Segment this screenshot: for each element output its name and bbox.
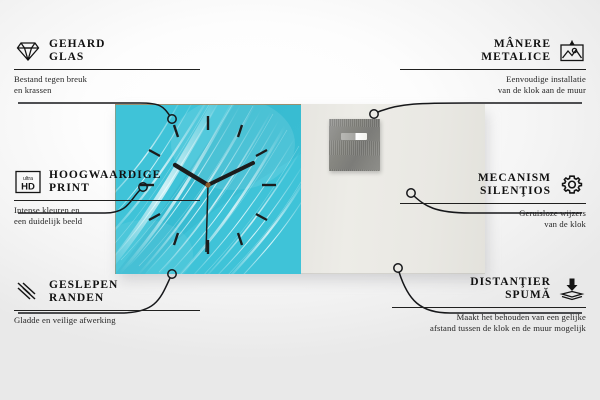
clock-center-cap [205,182,210,187]
feature-subtitle-line1: Eenvoudige installatie [506,74,586,84]
diagonal-lines-icon [14,279,42,305]
feature-subtitle-line2: afstand tussen de klok en de muur mogeli… [430,323,586,333]
feature-title-line1: MECANISM [478,172,551,184]
feature-hoogwaardige-print: ultra HD HOOGWAARDIGE PRINT Intense kleu… [14,167,200,228]
feature-subtitle-line2: een duidelijk beeld [14,216,82,226]
feature-manere-metalice: MÂNERE METALICE Eenvoudige installatie v… [400,36,586,97]
feature-header: GEHARD GLAS [14,36,200,66]
metal-hanger-plate [329,119,380,171]
hanger-slot [341,133,367,140]
feature-subtitle-line2: en krassen [14,85,52,95]
feature-subtitle-line1: Intense kleuren en [14,205,80,215]
feature-header: ultra HD HOOGWAARDIGE PRINT [14,167,200,197]
feature-title-line2: SPUMĂ [505,289,551,301]
gear-icon [558,172,586,198]
feature-title: HOOGWAARDIGE PRINT [49,169,161,196]
feature-geslepen-randen: GESLEPEN RANDEN Gladde en veilige afwerk… [14,277,200,326]
feature-title-line2: SILENŢIOS [480,185,551,197]
feature-subtitle: Eenvoudige installatie van de klok aan d… [400,74,586,97]
feature-title: DISTANŢIER SPUMĂ [470,276,551,303]
diamond-icon [14,38,42,64]
feature-subtitle: Gladde en veilige afwerking [14,315,200,326]
infographic-canvas: GEHARD GLAS Bestand tegen breuk en krass… [0,0,600,400]
clock-minute-hand [208,163,253,185]
feature-subtitle-line2: van de klok aan de muur [498,85,586,95]
feature-subtitle: Geruisloze wijzers van de klok [400,208,586,231]
feature-divider [400,69,586,70]
feature-title: MÂNERE METALICE [481,38,551,65]
feature-header: GESLEPEN RANDEN [14,277,200,307]
press-down-layer-icon [558,276,586,302]
feature-mecanism-silentios: MECANISM SILENŢIOS Geruisloze wijzers va… [400,170,586,231]
feature-divider [392,307,586,308]
feature-subtitle-line2: van de klok [544,219,586,229]
feature-title: GEHARD GLAS [49,38,105,65]
feature-subtitle: Bestand tegen breuk en krassen [14,74,200,97]
ultra-hd-icon: ultra HD [14,169,42,195]
feature-subtitle: Intense kleuren en een duidelijk beeld [14,205,200,228]
feature-title-line1: GESLEPEN [49,279,118,291]
feature-subtitle-line1: Gladde en veilige afwerking [14,315,116,325]
feature-title-line1: DISTANŢIER [470,276,551,288]
feature-gehard-glas: GEHARD GLAS Bestand tegen breuk en krass… [14,36,200,97]
feature-header: MÂNERE METALICE [400,36,586,66]
feature-title-line2: PRINT [49,182,90,194]
feature-distantier-spuma: DISTANŢIER SPUMĂ Maakt het behouden van … [392,274,586,335]
ultra-hd-large-label: HD [21,182,35,193]
feature-title-line2: GLAS [49,51,84,63]
feature-title: GESLEPEN RANDEN [49,279,118,306]
feature-title-line2: RANDEN [49,292,104,304]
feature-divider [400,203,586,204]
feature-divider [14,310,200,311]
feature-subtitle-line1: Bestand tegen breuk [14,74,87,84]
feature-subtitle-line1: Maakt het behouden van een gelijke [457,312,586,322]
feature-header: MECANISM SILENŢIOS [400,170,586,200]
feature-divider [14,69,200,70]
feature-title: MECANISM SILENŢIOS [478,172,551,199]
feature-subtitle-line1: Geruisloze wijzers [519,208,586,218]
feature-title-line1: MÂNERE [494,38,551,50]
feature-header: DISTANŢIER SPUMĂ [392,274,586,304]
feature-title-line2: METALICE [481,51,551,63]
feature-title-line1: GEHARD [49,38,105,50]
feature-subtitle: Maakt het behouden van een gelijke afsta… [392,312,586,335]
picture-frame-hook-icon [558,38,586,64]
feature-title-line1: HOOGWAARDIGE [49,169,161,181]
feature-divider [14,200,200,201]
